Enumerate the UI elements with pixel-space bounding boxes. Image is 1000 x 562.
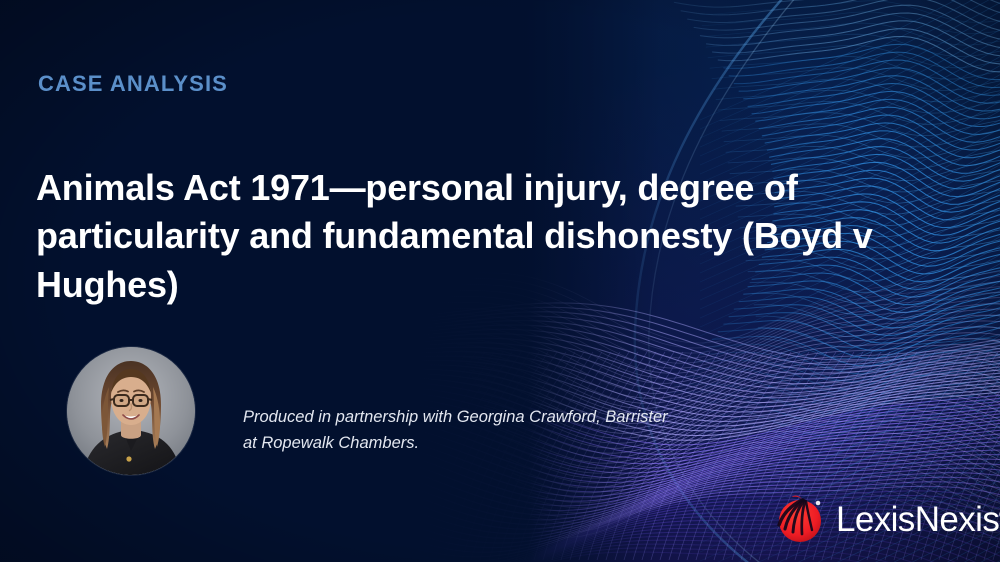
lexisnexis-mark-icon	[772, 491, 826, 545]
author-avatar	[67, 347, 195, 475]
avatar-portrait-illustration	[67, 347, 195, 475]
wordmark-text: LexisNexis	[836, 500, 999, 539]
eyebrow-label: CASE ANALYSIS	[38, 73, 228, 95]
page-title: Animals Act 1971—personal injury, degree…	[36, 164, 906, 309]
case-analysis-title-card: CASE ANALYSIS Animals Act 1971—personal …	[0, 0, 1000, 562]
attribution-text: Produced in partnership with Georgina Cr…	[243, 405, 673, 456]
card-content: CASE ANALYSIS Animals Act 1971—personal …	[0, 0, 1000, 562]
lexisnexis-logo[interactable]: LexisNexis®	[772, 491, 1000, 545]
lexisnexis-wordmark: LexisNexis®	[836, 502, 1000, 537]
